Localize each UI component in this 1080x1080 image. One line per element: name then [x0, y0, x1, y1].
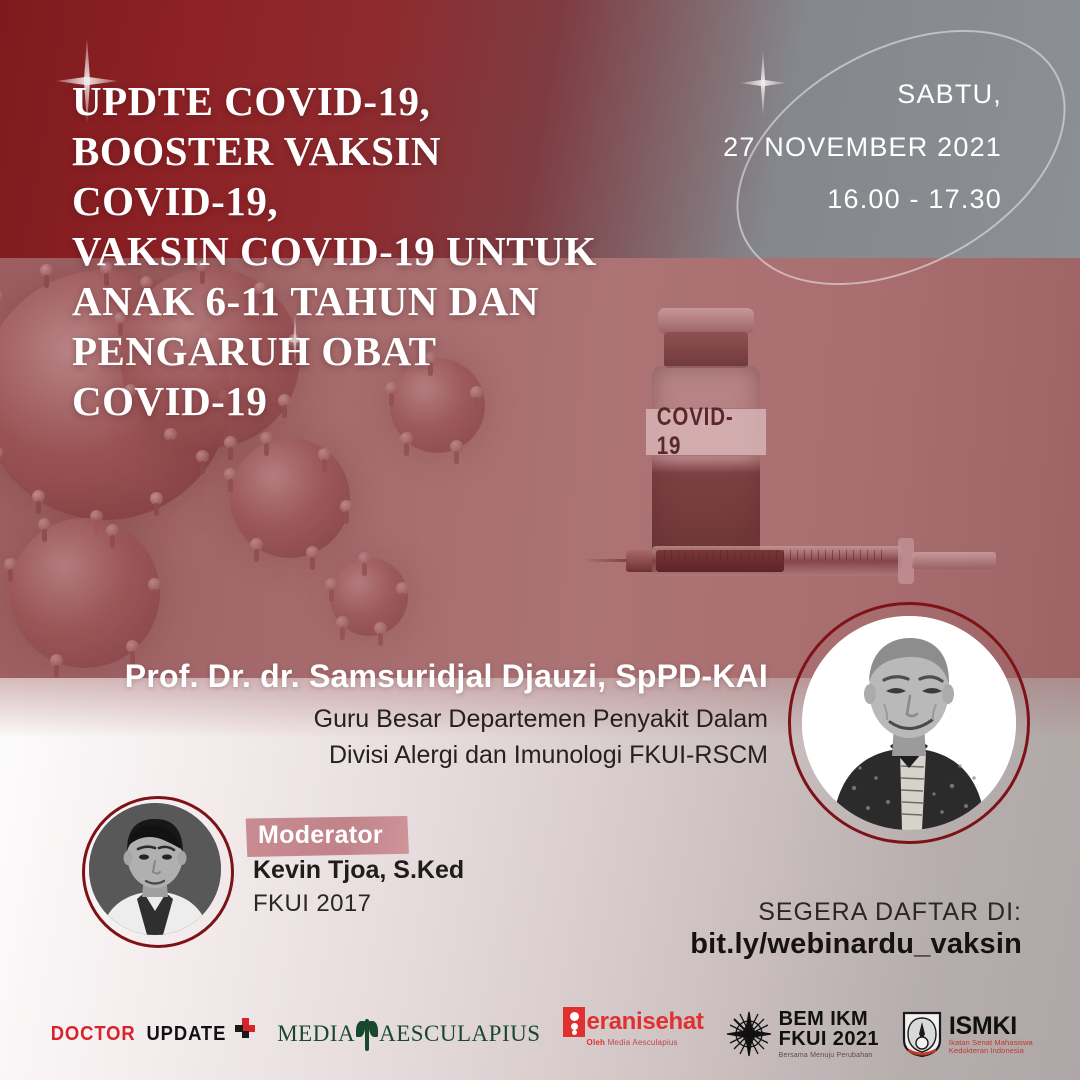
ismki-wordmark: ISMKI Ikatan Senat Mahasiswa Kedokteran …	[949, 1013, 1033, 1055]
doctor-update-word-1: DOCTOR	[51, 1023, 136, 1046]
logo-bem-ikm-fkui: BEM IKM FKUI 2021 Bersama Menuju Perubah…	[726, 1007, 879, 1061]
moderator-portrait-image	[89, 803, 221, 935]
title-line-5: ANAK 6-11 TAHUN DAN	[72, 276, 732, 326]
beranisehat-wordmark: eranisehat	[563, 1007, 704, 1037]
bem-line-1: BEM IKM	[779, 1009, 879, 1030]
title-line-4: VAKSIN COVID-19 UNTUK	[72, 226, 732, 276]
beranisehat-sub-text: Media Aesculapius	[608, 1038, 678, 1047]
ismki-name: ISMKI	[949, 1013, 1033, 1039]
speaker-affiliation-line-1: Guru Besar Departemen Penyakit Dalam	[78, 702, 768, 738]
virus-particle-icon	[330, 558, 408, 636]
virus-particle-icon	[230, 438, 350, 558]
bem-line-2: FKUI 2021	[779, 1029, 879, 1050]
beranisehat-sub-prefix: Oleh	[587, 1038, 606, 1047]
bem-ikm-wordmark: BEM IKM FKUI 2021 Bersama Menuju Perubah…	[779, 1009, 879, 1060]
moderator-badge: Moderator	[244, 816, 409, 857]
schedule-block: SABTU, 27 NOVEMBER 2021 16.00 - 17.30	[672, 68, 1002, 226]
caduceus-icon	[357, 1017, 377, 1051]
person-b-icon	[563, 1007, 585, 1037]
title-line-2: BOOSTER VAKSIN	[72, 126, 732, 176]
registration-link[interactable]: bit.ly/webinardu_vaksin	[690, 928, 1022, 961]
title-line-1: UPDTE COVID-19,	[72, 76, 732, 126]
moderator-org: FKUI 2017	[253, 890, 371, 918]
schedule-time: 16.00 - 17.30	[672, 173, 1002, 226]
speaker-affiliation-line-2: Divisi Alergi dan Imunologi FKUI-RSCM	[78, 738, 768, 774]
compass-star-icon	[726, 1011, 772, 1057]
logo-media-aesculapius: MEDIA AESCULAPIUS	[277, 1007, 540, 1061]
registration-label: SEGERA DAFTAR DI:	[758, 898, 1022, 927]
schedule-day: SABTU,	[672, 68, 1002, 121]
virus-particle-icon	[10, 518, 160, 668]
speaker-affiliation: Guru Besar Departemen Penyakit Dalam Div…	[78, 702, 768, 773]
syringe-icon	[586, 528, 1006, 598]
webinar-poster: COVID-19 UPDTE COVID-19, BOOSTER VAKSIN …	[0, 0, 1080, 1080]
logo-beranisehat: eranisehat Oleh Media Aesculapius	[563, 1007, 704, 1061]
sponsor-logo-strip: DOCTOR UPDATE MEDIA AESCULAPIUS eraniseh…	[0, 1002, 1080, 1066]
doctor-update-word-2: UPDATE	[147, 1023, 227, 1046]
shield-emblem-icon	[901, 1010, 943, 1058]
speaker-avatar	[788, 602, 1030, 844]
schedule-date: 27 NOVEMBER 2021	[672, 121, 1002, 174]
syringe-graduations	[664, 550, 884, 560]
beranisehat-word: eranisehat	[587, 1008, 704, 1036]
bem-tagline: Bersama Menuju Perubahan	[779, 1052, 879, 1059]
speaker-name: Prof. Dr. dr. Samsuridjal Djauzi, SpPD-K…	[78, 658, 768, 695]
ismki-subtitle-2: Kedokteran Indonesia	[949, 1047, 1033, 1055]
poster-title: UPDTE COVID-19, BOOSTER VAKSIN COVID-19,…	[72, 76, 732, 426]
media-aesculapius-word-2: AESCULAPIUS	[379, 1021, 540, 1047]
syringe-plunger	[912, 552, 996, 569]
moderator-avatar	[82, 796, 234, 948]
speaker-avatar-disc	[802, 616, 1016, 830]
title-line-3: COVID-19,	[72, 176, 732, 226]
logo-doctor-update: DOCTOR UPDATE	[47, 1007, 255, 1061]
media-aesculapius-word-1: MEDIA	[277, 1021, 355, 1047]
moderator-name: Kevin Tjoa, S.Ked	[253, 856, 464, 885]
moderator-avatar-disc	[89, 803, 221, 935]
medical-cross-icon	[235, 1018, 255, 1038]
syringe-needle	[586, 559, 630, 562]
title-line-7: COVID-19	[72, 376, 732, 426]
logo-ismki: ISMKI Ikatan Senat Mahasiswa Kedokteran …	[901, 1007, 1033, 1061]
title-line-6: PENGARUH OBAT	[72, 326, 732, 376]
beranisehat-subtitle: Oleh Media Aesculapius	[587, 1038, 678, 1047]
speaker-portrait-image	[802, 616, 1016, 830]
